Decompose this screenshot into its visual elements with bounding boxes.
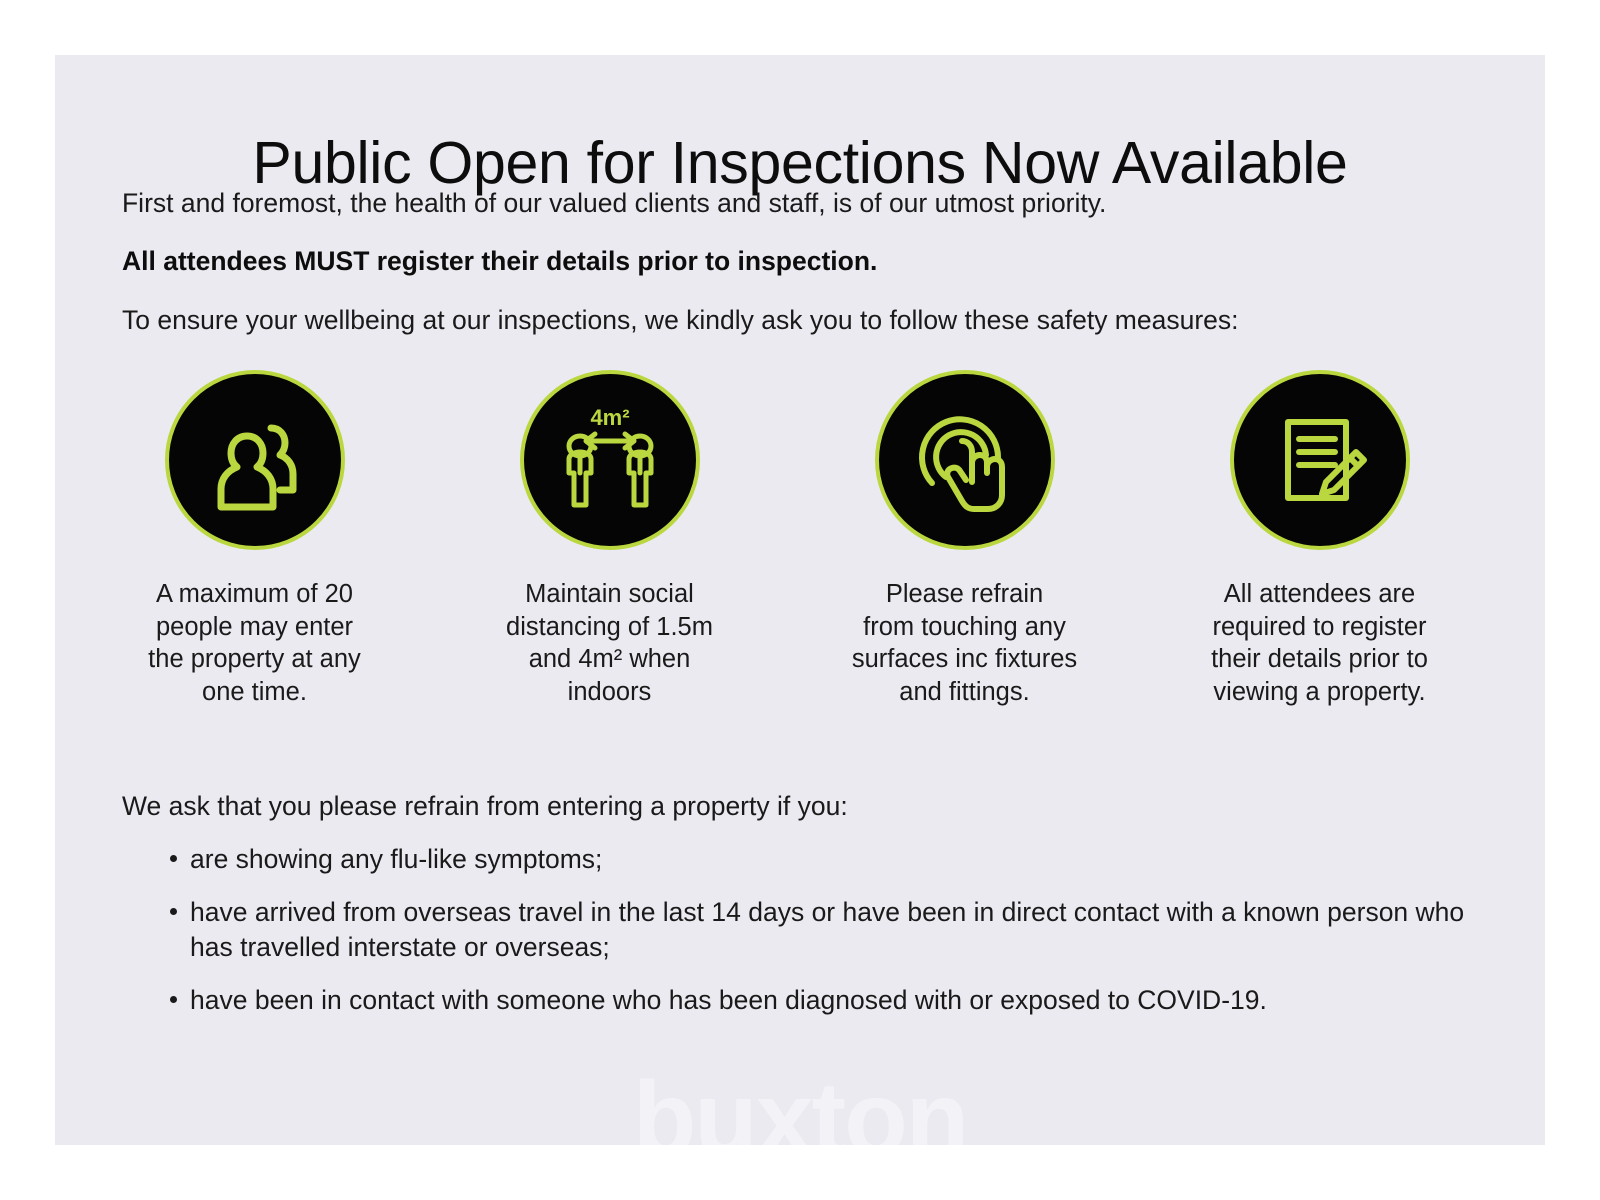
- intro-line-2-bold: All attendees MUST register their detail…: [122, 245, 1482, 277]
- page-title: Public Open for Inspections Now Availabl…: [55, 131, 1545, 196]
- measure-item-no-touching: Please refrain from touching any surface…: [787, 370, 1142, 709]
- measure-caption: Maintain social distancing of 1.5m and 4…: [506, 578, 713, 709]
- two-people-badge: [165, 370, 345, 550]
- measure-item-register: All attendees are required to register t…: [1142, 370, 1497, 709]
- social-distancing-badge: 4m²: [520, 370, 700, 550]
- bullet-dot-icon: [170, 855, 177, 862]
- measure-item-distancing: 4m²: [432, 370, 787, 709]
- distancing-area-label: 4m²: [590, 405, 629, 430]
- intro-line-3: To ensure your wellbeing at our inspecti…: [122, 304, 1482, 336]
- measure-caption: A maximum of 20 people may enter the pro…: [148, 578, 361, 709]
- bullet-dot-icon: [170, 996, 177, 1003]
- intro-paragraphs: First and foremost, the health of our va…: [122, 187, 1482, 362]
- safety-measures-row: A maximum of 20 people may enter the pro…: [55, 370, 1545, 709]
- bullet-dot-icon: [170, 908, 177, 915]
- list-item: have arrived from overseas travel in the…: [122, 895, 1502, 965]
- exclusion-bullet-list: are showing any flu-like symptoms; have …: [122, 842, 1502, 1018]
- measure-caption: All attendees are required to register t…: [1211, 578, 1428, 709]
- measure-item-capacity: A maximum of 20 people may enter the pro…: [77, 370, 432, 709]
- list-item: are showing any flu-like symptoms;: [122, 842, 1502, 877]
- poster-panel: Public Open for Inspections Now Availabl…: [55, 55, 1545, 1145]
- list-item-text: are showing any flu-like symptoms;: [190, 844, 602, 874]
- list-item: have been in contact with someone who ha…: [122, 983, 1502, 1018]
- measure-caption: Please refrain from touching any surface…: [852, 578, 1077, 709]
- intro-line-1: First and foremost, the health of our va…: [122, 187, 1482, 219]
- social-distancing-icon: 4m²: [551, 401, 669, 519]
- brand-watermark: buxton: [55, 1067, 1545, 1145]
- exclusion-lead: We ask that you please refrain from ente…: [122, 790, 1502, 822]
- poster-root: Public Open for Inspections Now Availabl…: [0, 0, 1600, 1200]
- two-people-icon: [201, 406, 309, 514]
- list-item-text: have arrived from overseas travel in the…: [190, 897, 1464, 962]
- touch-hand-badge: [875, 370, 1055, 550]
- document-pencil-icon: [1266, 406, 1374, 514]
- list-item-text: have been in contact with someone who ha…: [190, 985, 1267, 1015]
- document-pencil-badge: [1230, 370, 1410, 550]
- exclusion-section: We ask that you please refrain from ente…: [122, 790, 1502, 1036]
- touch-hand-icon: [910, 405, 1020, 515]
